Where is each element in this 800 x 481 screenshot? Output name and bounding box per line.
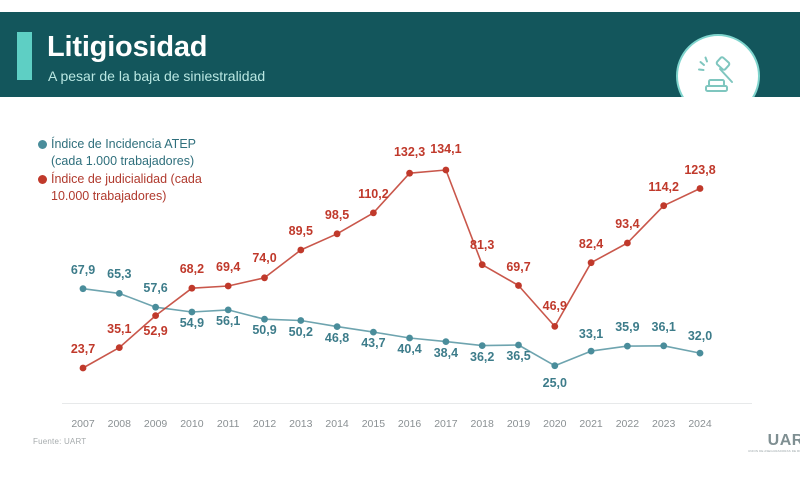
x-axis-label-2017: 2017	[426, 418, 466, 430]
page-header: Litigiosidad A pesar de la baja de sinie…	[0, 12, 800, 97]
gavel-icon	[676, 34, 760, 97]
data-label-judicialidad-2022: 93,4	[600, 217, 654, 231]
data-label-judicialidad-2020: 46,9	[528, 299, 582, 313]
uart-logo-subtitle: UNION DE ASEGURADORAS DE RIESGOS DEL TRA…	[748, 449, 800, 453]
x-axis-label-2014: 2014	[317, 418, 357, 430]
data-label-incidencia-2019: 36,5	[492, 349, 546, 363]
x-axis-label-2018: 2018	[462, 418, 502, 430]
x-axis-label-2021: 2021	[571, 418, 611, 430]
source-note: Fuente: UART	[33, 437, 86, 446]
x-axis-label-2012: 2012	[245, 418, 285, 430]
page-subtitle: A pesar de la baja de siniestralidad	[48, 67, 265, 85]
x-axis-label-2007: 2007	[63, 418, 103, 430]
legend-marker-icon-incidencia	[38, 140, 47, 149]
uart-logo-text: UART	[748, 432, 800, 449]
data-label-judicialidad-2013: 89,5	[274, 224, 328, 238]
data-label-incidencia-2024: 32,0	[673, 329, 727, 343]
x-axis-label-2023: 2023	[644, 418, 684, 430]
x-axis-label-2011: 2011	[208, 418, 248, 430]
data-label-judicialidad-2009: 52,9	[129, 324, 183, 338]
data-label-judicialidad-2023: 114,2	[637, 180, 691, 194]
legend-item-incidencia: Índice de Incidencia ATEP (cada 1.000 tr…	[38, 136, 288, 169]
data-label-judicialidad-2024: 123,8	[673, 163, 727, 177]
data-label-incidencia-2020: 25,0	[528, 376, 582, 390]
data-label-judicialidad-2012: 74,0	[238, 251, 292, 265]
data-label-incidencia-2009: 57,6	[129, 281, 183, 295]
data-label-judicialidad-2014: 98,5	[310, 208, 364, 222]
x-axis-label-2016: 2016	[390, 418, 430, 430]
data-label-judicialidad-2007: 23,7	[56, 342, 110, 356]
uart-logo: UART UNION DE ASEGURADORAS DE RIESGOS DE…	[748, 432, 800, 453]
x-axis-labels: 2007200820092010201120122013201420152016…	[0, 418, 800, 434]
legend-label-judicialidad-line1: Índice de judicialidad (cada	[51, 172, 202, 186]
legend-marker-icon-judicialidad	[38, 175, 47, 184]
data-label-judicialidad-2019: 69,7	[492, 260, 546, 274]
page-title: Litigiosidad	[47, 30, 207, 64]
x-axis-label-2024: 2024	[680, 418, 720, 430]
legend-item-judicialidad: Índice de judicialidad (cada 10.000 trab…	[38, 171, 288, 204]
data-label-incidencia-2008: 65,3	[92, 267, 146, 281]
x-axis-label-2008: 2008	[99, 418, 139, 430]
x-axis-label-2013: 2013	[281, 418, 321, 430]
x-axis-label-2022: 2022	[607, 418, 647, 430]
x-axis-label-2019: 2019	[499, 418, 539, 430]
legend-label-judicialidad: Índice de judicialidad (cada 10.000 trab…	[51, 171, 202, 204]
legend-label-incidencia: Índice de Incidencia ATEP (cada 1.000 tr…	[51, 136, 196, 169]
data-label-judicialidad-2021: 82,4	[564, 237, 618, 251]
x-axis-label-2020: 2020	[535, 418, 575, 430]
chart-legend: Índice de Incidencia ATEP (cada 1.000 tr…	[38, 136, 288, 206]
x-axis-label-2010: 2010	[172, 418, 212, 430]
x-axis-line	[62, 403, 752, 404]
legend-label-incidencia-line2: (cada 1.000 trabajadores)	[51, 154, 194, 168]
data-label-judicialidad-2015: 110,2	[346, 187, 400, 201]
data-label-judicialidad-2018: 81,3	[455, 238, 509, 252]
data-label-judicialidad-2017: 134,1	[419, 142, 473, 156]
legend-label-incidencia-line1: Índice de Incidencia ATEP	[51, 137, 196, 151]
x-axis-label-2015: 2015	[353, 418, 393, 430]
header-accent-bar	[17, 32, 32, 80]
x-axis-label-2009: 2009	[136, 418, 176, 430]
legend-label-judicialidad-line2: 10.000 trabajadores)	[51, 189, 166, 203]
